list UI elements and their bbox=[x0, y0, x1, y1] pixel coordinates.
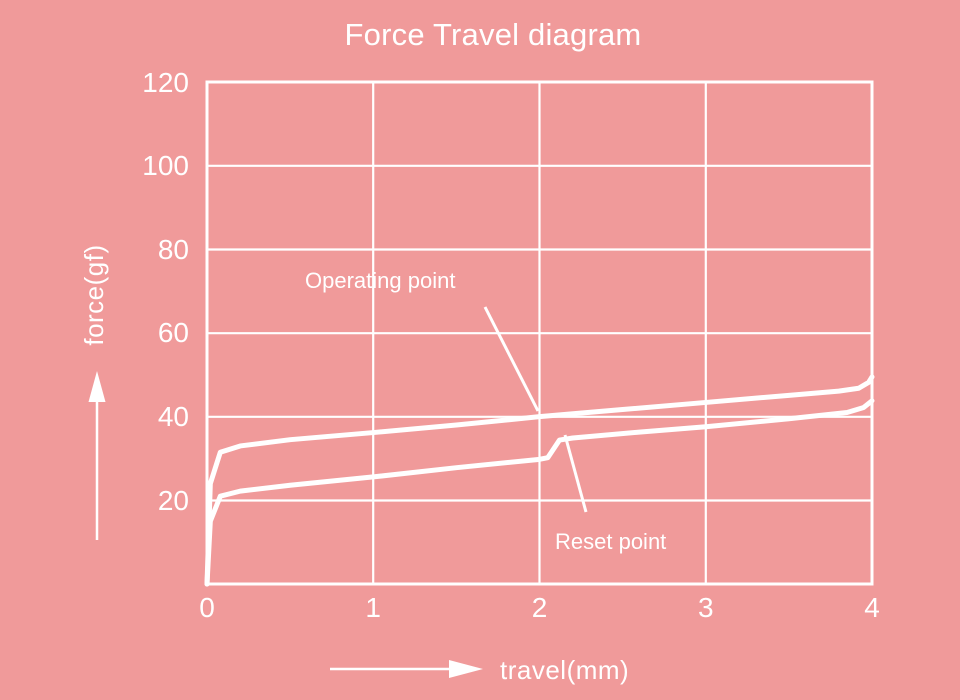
operating-point-leader-line bbox=[485, 307, 538, 411]
y-tick-120: 120 bbox=[142, 67, 189, 98]
y-tick-20: 20 bbox=[158, 485, 189, 516]
y-tick-60: 60 bbox=[158, 317, 189, 348]
annotation-reset-point: Reset point bbox=[555, 435, 666, 554]
x-axis-title: travel(mm) bbox=[500, 655, 629, 685]
x-tick-4: 4 bbox=[864, 592, 880, 623]
y-axis-tick-labels: 20 40 60 80 100 120 bbox=[142, 67, 189, 516]
chart-title: Force Travel diagram bbox=[345, 17, 642, 52]
y-axis-title: force(gf) bbox=[79, 244, 109, 345]
force-travel-chart: Force Travel diagram 20 40 60 80 100 120 bbox=[0, 0, 960, 700]
y-tick-80: 80 bbox=[158, 234, 189, 265]
x-tick-3: 3 bbox=[698, 592, 714, 623]
y-tick-100: 100 bbox=[142, 150, 189, 181]
y-axis-title-group: force(gf) bbox=[79, 244, 109, 540]
y-tick-40: 40 bbox=[158, 401, 189, 432]
y-axis-arrow-icon bbox=[89, 371, 106, 402]
x-axis-title-group: travel(mm) bbox=[330, 655, 629, 685]
x-tick-0: 0 bbox=[199, 592, 215, 623]
chart-canvas: Force Travel diagram 20 40 60 80 100 120 bbox=[0, 0, 960, 700]
x-axis-arrow-icon bbox=[449, 660, 483, 678]
x-tick-1: 1 bbox=[365, 592, 381, 623]
x-tick-2: 2 bbox=[532, 592, 548, 623]
operating-point-label: Operating point bbox=[305, 268, 455, 293]
reset-point-label: Reset point bbox=[555, 529, 666, 554]
x-axis-tick-labels: 0 1 2 3 4 bbox=[199, 592, 880, 623]
annotation-operating-point: Operating point bbox=[305, 268, 538, 411]
